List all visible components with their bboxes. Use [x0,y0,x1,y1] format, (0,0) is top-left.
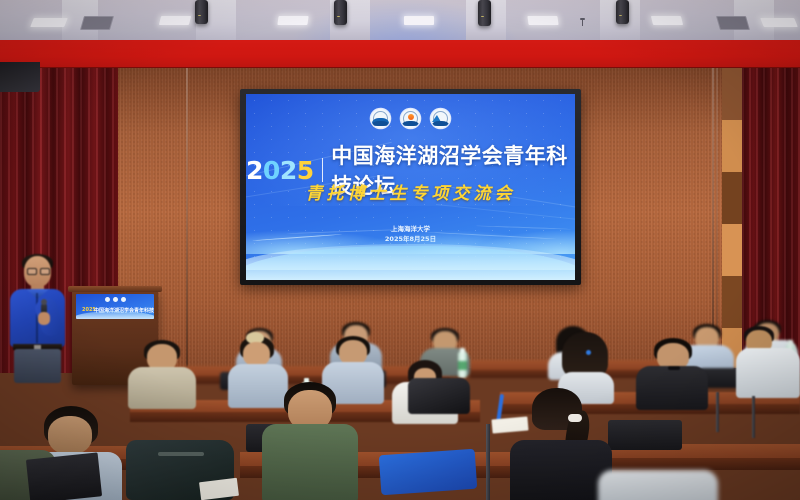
chair-leg [716,392,719,432]
wall-seam [186,68,188,368]
logo-sunrise-sea-icon [401,109,420,128]
water-bottle [458,352,467,378]
recessed-light [159,16,191,25]
neck-lanyard [668,366,680,370]
recessed-light [277,16,308,25]
cylinder-speaker [334,0,347,25]
chair-leg [752,396,755,438]
recessed-light [760,18,798,27]
podium-led-banner: 2025 中国海洋湖沼学会青年科技论坛 [76,294,154,319]
backpack-zipper [158,452,204,456]
hair-clip [586,350,591,355]
podium-wave-graphic [76,311,154,319]
podium-logo-row [76,297,154,302]
glasses-icon [27,268,48,273]
cylinder-speaker [195,0,208,24]
presenter-hand [38,312,50,325]
podium-logo-icon [105,297,110,302]
audience-member-front [262,382,358,500]
audience-member-front [510,388,612,500]
podium-top-surface [68,286,162,292]
ceiling [0,0,800,42]
audience-member-front [598,470,718,500]
hair-tie [568,414,582,422]
recessed-light [30,18,68,27]
blue-folder [379,449,478,496]
audience-member [128,340,196,406]
recessed-light [404,16,434,25]
air-grille [716,16,750,30]
cylinder-speaker [478,0,491,26]
audience-member [636,338,708,406]
podium-logo-icon [121,297,126,302]
chair-back [608,420,682,450]
screen-logo-row [246,109,575,128]
recessed-light [527,16,558,25]
wall-speaker-box [0,62,40,92]
podium-logo-icon [113,297,118,302]
logo-ocean-univ-icon [431,109,450,128]
red-wall-band [0,40,800,70]
screen-subtitle-row: 青托博士生专项交流会 [246,179,575,204]
sprinkler-head [580,18,585,26]
presenter [8,256,68,381]
conference-hall-photo: 2025 中国海洋湖沼学会青年科技论坛 青托博士生专项交流会 上海海洋大学 20… [0,0,800,500]
screen-wave-graphic [246,208,575,280]
wall-seam [712,68,714,368]
led-presentation-screen[interactable]: 2025 中国海洋湖沼学会青年科技论坛 青托博士生专项交流会 上海海洋大学 20… [246,94,575,280]
cylinder-speaker [616,0,629,24]
screen-subtitle: 青托博士生专项交流会 [246,179,575,204]
laptop [26,452,102,500]
air-grille [80,16,114,30]
logo-csol-wave-icon [371,109,390,128]
wall-seam [716,68,718,368]
black-backpack [408,378,470,414]
presenter-trousers [14,349,61,383]
audience-member [736,326,800,398]
chair-leg [486,424,490,500]
recessed-light [651,16,683,25]
